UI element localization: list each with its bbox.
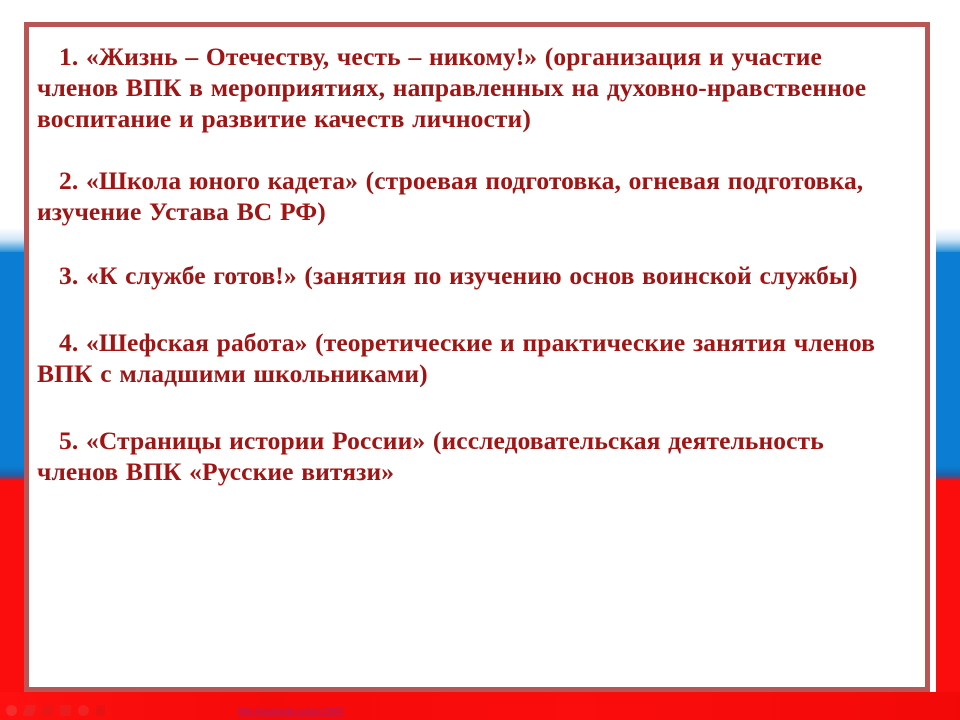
russian-flag-stripe-right bbox=[936, 0, 960, 720]
content-frame: 1. «Жизнь – Отечеству, честь – никому!» … bbox=[24, 22, 930, 692]
square-icon bbox=[60, 705, 71, 716]
bottom-band-sheen bbox=[0, 692, 960, 720]
flag-band-white-blue-fade bbox=[0, 228, 24, 254]
flag-band-blue bbox=[0, 252, 24, 478]
bottom-red-band bbox=[0, 692, 960, 720]
slash-icon bbox=[22, 705, 36, 716]
circle-icon bbox=[6, 705, 17, 716]
list-item-4: 4. «Шефская работа» (теоретические и пра… bbox=[37, 327, 909, 389]
square-icon bbox=[96, 705, 105, 716]
list-item-1: 1. «Жизнь – Отечеству, честь – никому!» … bbox=[37, 41, 909, 134]
flag-band-white bbox=[0, 0, 24, 244]
list-item-2: 2. «Школа юного кадета» (строевая подгот… bbox=[37, 165, 909, 227]
list-item-5: 5. «Страницы истории России» (исследоват… bbox=[37, 425, 909, 487]
taskbar-icon-row bbox=[6, 705, 105, 716]
flag-band-red bbox=[0, 480, 24, 720]
slide-text-body: 1. «Жизнь – Отечеству, честь – никому!» … bbox=[29, 27, 925, 687]
russian-flag-stripe-left bbox=[0, 0, 24, 720]
flag-band-red bbox=[936, 480, 960, 720]
circle-icon bbox=[78, 705, 89, 716]
list-item-3: 3. «К службе готов!» (занятия по изучени… bbox=[37, 260, 909, 291]
flag-band-blue bbox=[936, 252, 960, 478]
flag-band-white-blue-fade bbox=[936, 228, 960, 254]
flag-band-white bbox=[936, 0, 960, 244]
slide-canvas: http://example.ru/sec/1567 1. «Жизнь – О… bbox=[0, 0, 960, 720]
footer-source-link[interactable]: http://example.ru/sec/1567 bbox=[238, 706, 344, 717]
slash-icon bbox=[40, 705, 54, 716]
